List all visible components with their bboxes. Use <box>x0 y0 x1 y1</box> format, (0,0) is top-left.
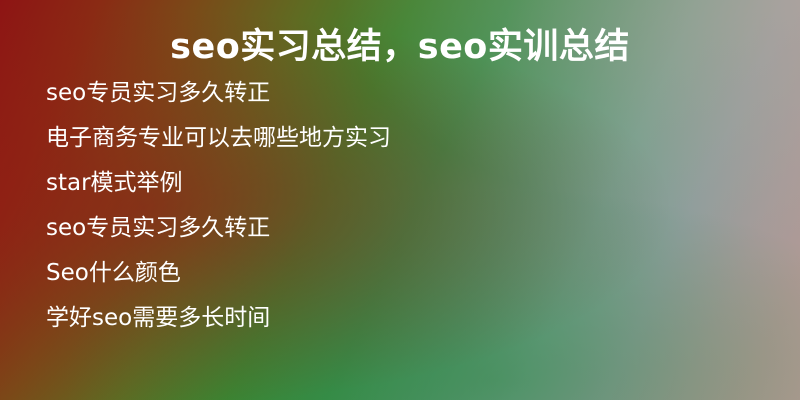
list-item: Seo什么颜色 <box>40 262 760 285</box>
list-item: 电子商务专业可以去哪些地方实习 <box>40 127 760 150</box>
keyword-list: seo专员实习多久转正 电子商务专业可以去哪些地方实习 star模式举例 seo… <box>40 82 760 330</box>
poster-banner: seo实习总结，seo实训总结 seo专员实习多久转正 电子商务专业可以去哪些地… <box>0 0 800 400</box>
list-item: star模式举例 <box>40 172 760 195</box>
page-title: seo实习总结，seo实训总结 <box>40 26 760 68</box>
list-item: seo专员实习多久转正 <box>40 82 760 105</box>
list-item: seo专员实习多久转正 <box>40 217 760 240</box>
list-item: 学好seo需要多长时间 <box>40 307 760 330</box>
poster-content: seo实习总结，seo实训总结 seo专员实习多久转正 电子商务专业可以去哪些地… <box>0 0 800 400</box>
